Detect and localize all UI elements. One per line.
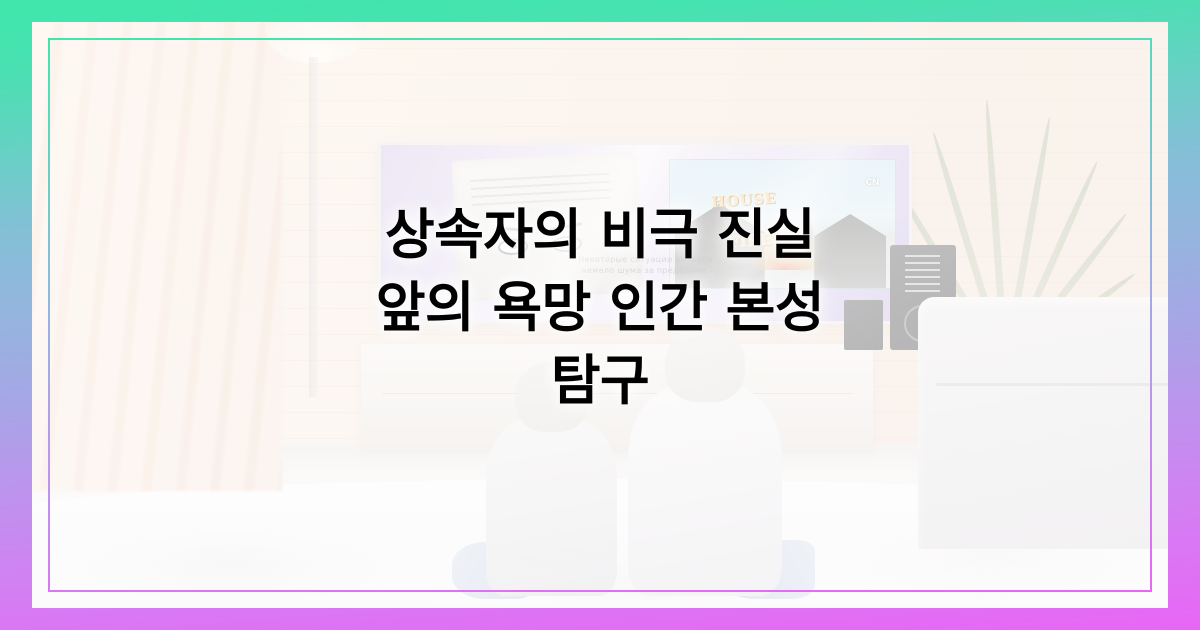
page-title: 상속자의 비극 진실 앞의 욕망 인간 본성 탐구 — [0, 198, 1200, 417]
child-left-body — [486, 418, 617, 596]
thumbnail-card: HOUSE FIRE! CN Некоторые ситуации вызвал… — [0, 0, 1200, 630]
headline-line-2: 앞의 욕망 인간 본성 — [120, 271, 1080, 344]
child-right-body — [628, 386, 781, 596]
headline-line-3: 탐구 — [120, 344, 1080, 417]
headline-line-1: 상속자의 비극 진실 — [120, 198, 1080, 271]
